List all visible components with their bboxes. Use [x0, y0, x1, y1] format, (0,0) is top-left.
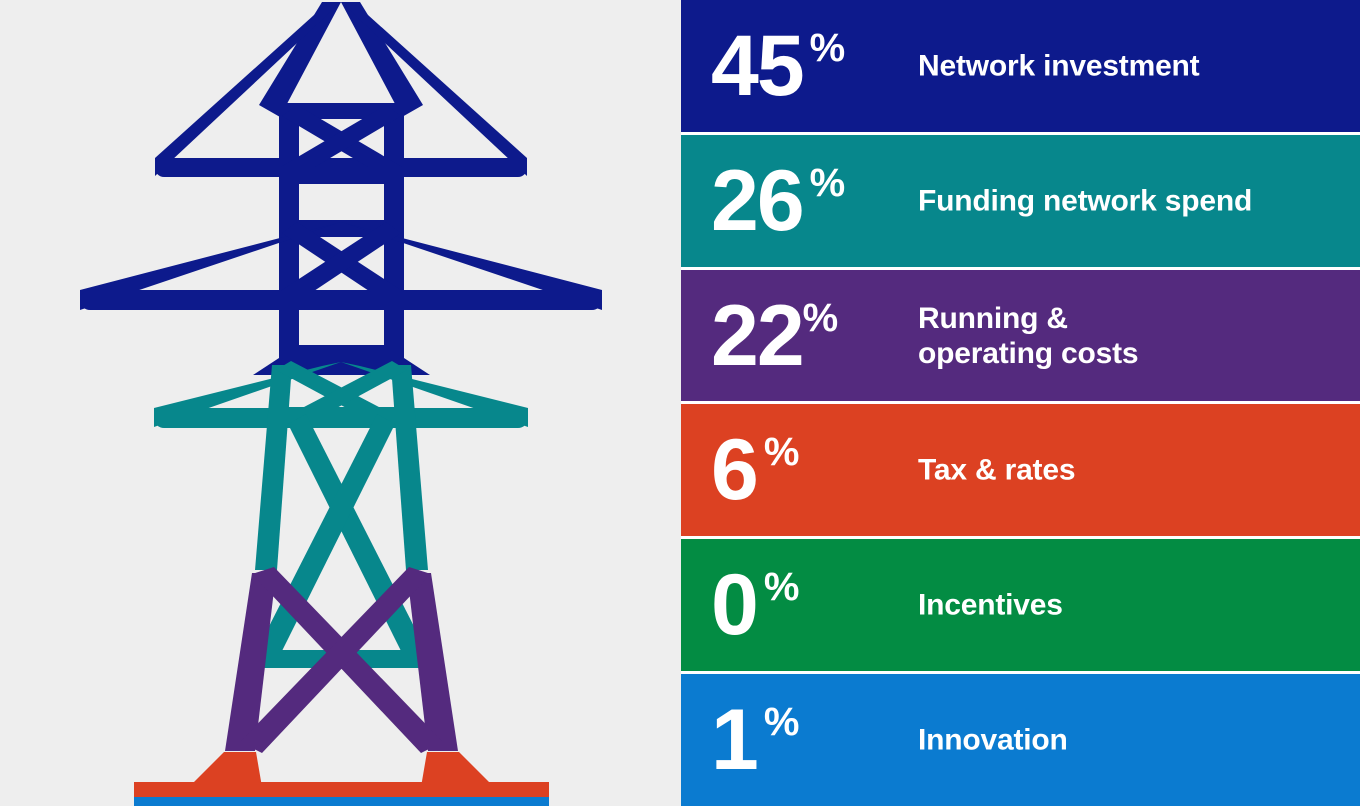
- pylon-segment-ground-line: [134, 797, 549, 806]
- percentage-bar-list: 45 % Network investment 26 % Funding net…: [681, 0, 1360, 806]
- bar-label: Tax & rates: [918, 453, 1087, 488]
- bar-value-number: 1: [711, 704, 757, 776]
- percent-sign: %: [764, 432, 800, 472]
- bar-value-group: 1 %: [711, 704, 799, 776]
- bar-funding-network-spend[interactable]: 26 % Funding network spend: [681, 135, 1360, 270]
- bar-label: Incentives: [918, 588, 1075, 623]
- bar-value-number: 22: [711, 299, 803, 371]
- infographic-canvas: 45 % Network investment 26 % Funding net…: [0, 0, 1360, 806]
- bar-value-group: 45 %: [711, 30, 845, 102]
- percent-sign: %: [764, 567, 800, 607]
- bar-value-number: 6: [711, 434, 757, 506]
- bar-label: Funding network spend: [918, 183, 1264, 218]
- illustration-panel: [0, 0, 681, 806]
- bar-value-number: 0: [711, 569, 757, 641]
- bar-running-operating-costs[interactable]: 22 % Running & operating costs: [681, 270, 1360, 405]
- bar-tax-rates[interactable]: 6 % Tax & rates: [681, 404, 1360, 539]
- bar-value-number: 26: [711, 165, 803, 237]
- bar-label: Network investment: [918, 48, 1211, 83]
- pylon-segment-lower-legs: [225, 567, 458, 753]
- bar-label: Running & operating costs: [918, 300, 1150, 370]
- bar-innovation[interactable]: 1 % Innovation: [681, 674, 1360, 806]
- percent-sign: %: [810, 163, 846, 203]
- bar-value-group: 6 %: [711, 434, 799, 506]
- pylon-segment-top: [80, 2, 602, 375]
- bar-value-number: 45: [711, 30, 803, 102]
- bar-value-group: 26 %: [711, 165, 845, 237]
- bar-network-investment[interactable]: 45 % Network investment: [681, 0, 1360, 135]
- bar-value-group: 0 %: [711, 569, 799, 641]
- pylon-segment-upper-middle: [154, 361, 528, 668]
- bar-incentives[interactable]: 0 % Incentives: [681, 539, 1360, 674]
- percent-sign: %: [810, 28, 846, 68]
- percent-sign: %: [803, 297, 839, 337]
- pylon-icon: [0, 0, 681, 806]
- percent-sign: %: [764, 702, 800, 742]
- bar-label: Innovation: [918, 723, 1080, 758]
- bar-value-group: 22 %: [711, 299, 838, 371]
